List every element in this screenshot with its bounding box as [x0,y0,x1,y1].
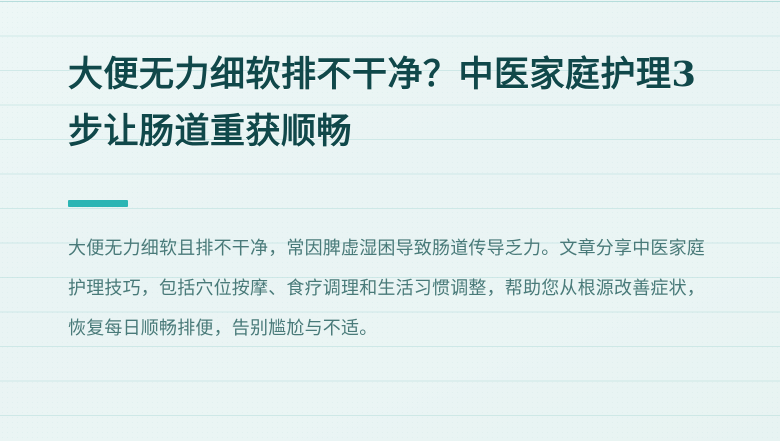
accent-divider [68,200,128,207]
page-title: 大便无力细软排不干净？中医家庭护理3步让肠道重获顺畅 [68,46,708,160]
article-cover-card: 大便无力细软排不干净？中医家庭护理3步让肠道重获顺畅 大便无力细软且排不干净，常… [0,0,780,441]
card-content: 大便无力细软排不干净？中医家庭护理3步让肠道重获顺畅 大便无力细软且排不干净，常… [68,0,718,441]
article-summary: 大便无力细软且排不干净，常因脾虚湿困导致肠道传导乏力。文章分享中医家庭护理技巧，… [68,228,708,348]
